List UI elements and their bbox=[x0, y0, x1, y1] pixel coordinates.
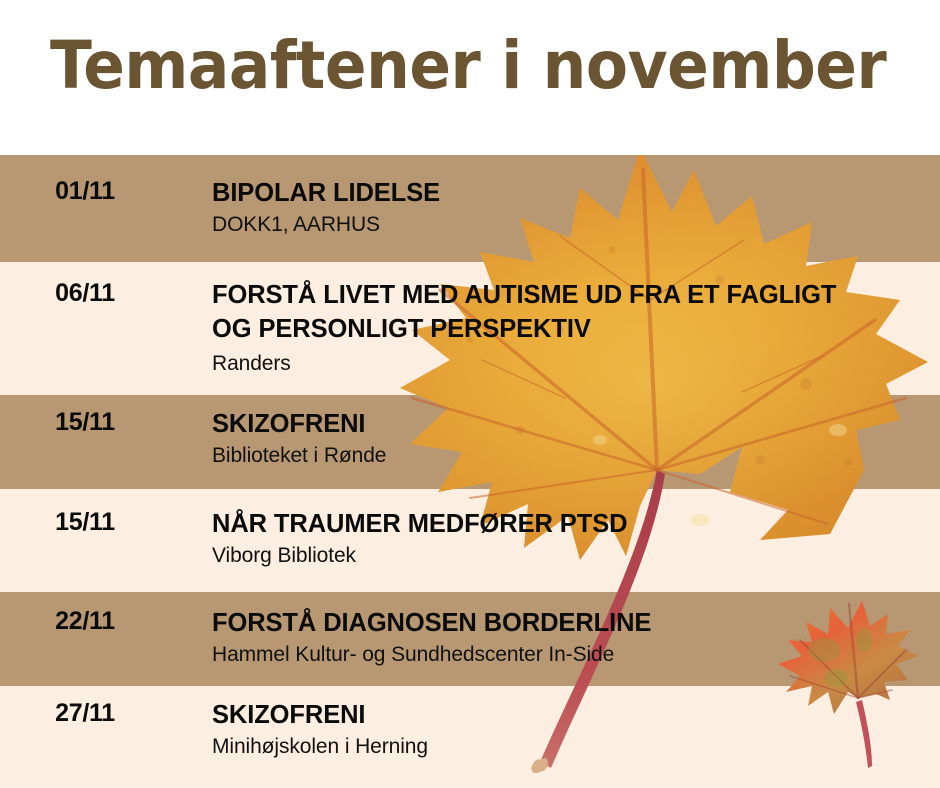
event-row: 27/11 SKIZOFRENI Minihøjskolen i Herning bbox=[0, 698, 940, 761]
event-row: 15/11 NÅR TRAUMER MEDFØRER PTSD Viborg B… bbox=[0, 507, 940, 570]
event-title: BIPOLAR LIDELSE bbox=[212, 176, 940, 210]
page-title: Temaaftener i november bbox=[50, 28, 886, 104]
poster-header: Temaaftener i november bbox=[0, 0, 940, 155]
event-detail: NÅR TRAUMER MEDFØRER PTSD Viborg Bibliot… bbox=[160, 507, 940, 570]
event-venue: Minihøjskolen i Herning bbox=[212, 733, 940, 761]
event-venue: Viborg Bibliotek bbox=[212, 542, 940, 570]
event-venue: Hammel Kultur- og Sundhedscenter In-Side bbox=[212, 641, 940, 669]
poster-canvas: Temaaftener i november 01/11 BIPOLAR LID… bbox=[0, 0, 940, 788]
event-detail: FORSTÅ LIVET MED AUTISME UD FRA ET FAGLI… bbox=[160, 278, 940, 378]
event-detail: SKIZOFRENI Biblioteket i Rønde bbox=[160, 407, 940, 470]
event-title: FORSTÅ LIVET MED AUTISME UD FRA ET FAGLI… bbox=[212, 278, 852, 346]
event-date: 06/11 bbox=[0, 278, 160, 308]
event-row: 06/11 FORSTÅ LIVET MED AUTISME UD FRA ET… bbox=[0, 278, 940, 378]
event-venue: Randers bbox=[212, 350, 940, 378]
event-venue: DOKK1, AARHUS bbox=[212, 211, 940, 239]
event-title: NÅR TRAUMER MEDFØRER PTSD bbox=[212, 507, 940, 541]
event-venue: Biblioteket i Rønde bbox=[212, 442, 940, 470]
event-detail: SKIZOFRENI Minihøjskolen i Herning bbox=[160, 698, 940, 761]
event-date: 22/11 bbox=[0, 606, 160, 636]
event-title: FORSTÅ DIAGNOSEN BORDERLINE bbox=[212, 606, 940, 640]
event-title: SKIZOFRENI bbox=[212, 407, 940, 441]
event-date: 15/11 bbox=[0, 407, 160, 437]
event-row: 15/11 SKIZOFRENI Biblioteket i Rønde bbox=[0, 407, 940, 470]
event-detail: FORSTÅ DIAGNOSEN BORDERLINE Hammel Kultu… bbox=[160, 606, 940, 669]
event-date: 15/11 bbox=[0, 507, 160, 537]
event-row: 22/11 FORSTÅ DIAGNOSEN BORDERLINE Hammel… bbox=[0, 606, 940, 669]
event-date: 27/11 bbox=[0, 698, 160, 728]
event-detail: BIPOLAR LIDELSE DOKK1, AARHUS bbox=[160, 176, 940, 239]
event-title: SKIZOFRENI bbox=[212, 698, 940, 732]
event-row: 01/11 BIPOLAR LIDELSE DOKK1, AARHUS bbox=[0, 176, 940, 239]
event-date: 01/11 bbox=[0, 176, 160, 206]
